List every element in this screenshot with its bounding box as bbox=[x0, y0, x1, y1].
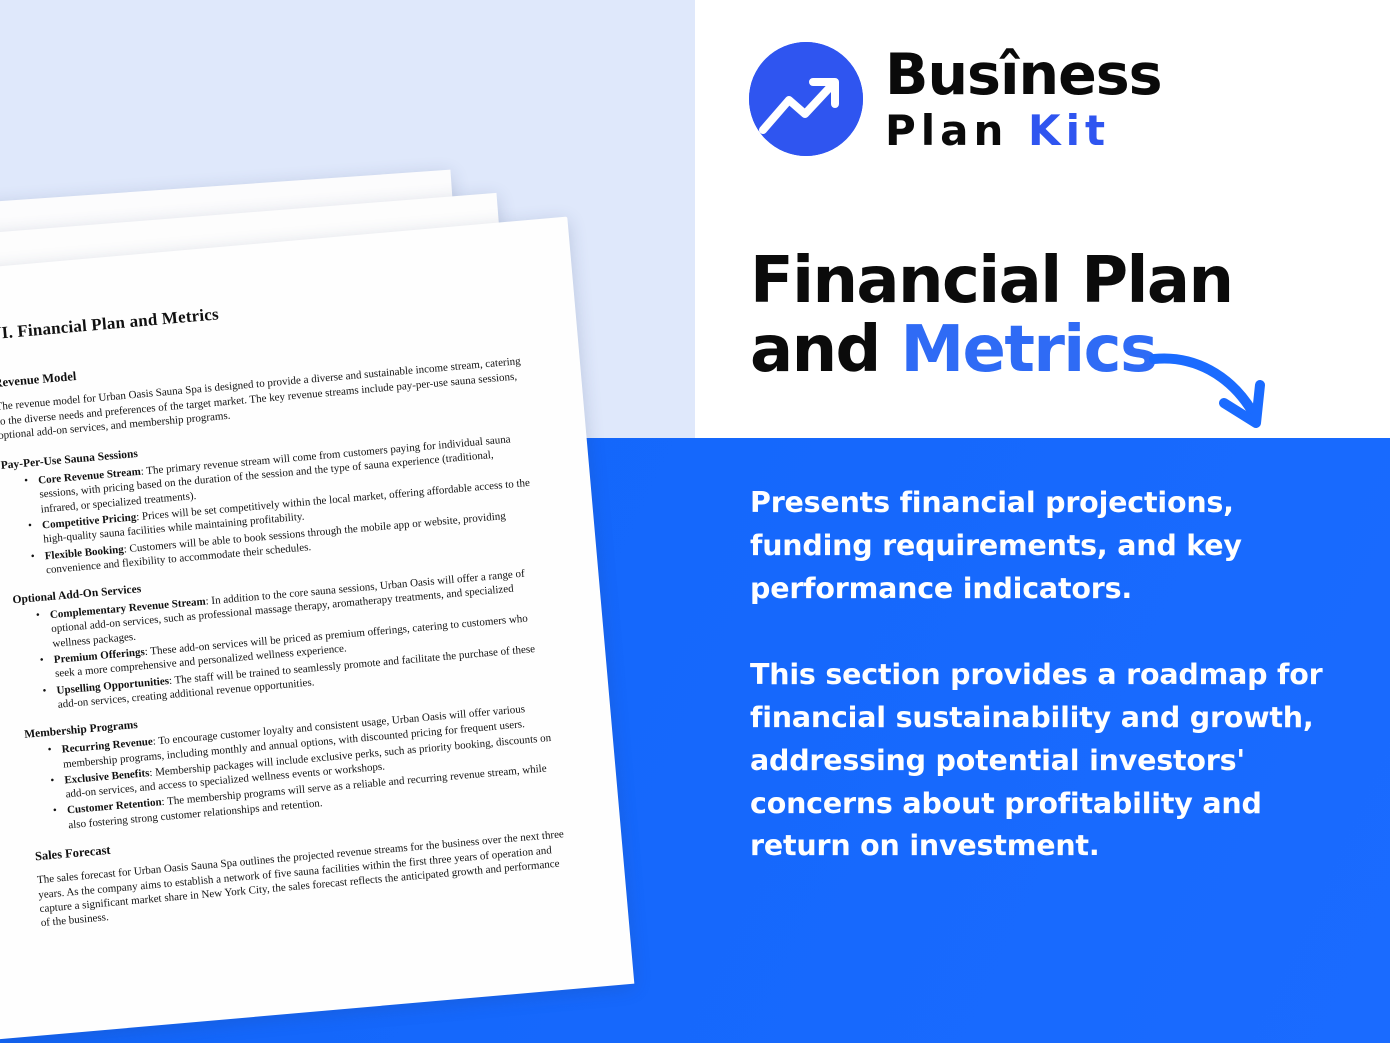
brand-line-business: Busîness bbox=[885, 47, 1162, 104]
panel-paragraph-2: This section provides a roadmap for fina… bbox=[750, 654, 1355, 868]
brand-plan: Plan bbox=[885, 106, 1008, 155]
brand-wordmark: Busîness Plan Kit bbox=[885, 47, 1162, 152]
brand-logo: Busîness Plan Kit bbox=[749, 42, 1162, 156]
page-title-line2-accent: Metrics bbox=[900, 313, 1156, 387]
brand-line-plan-kit: Plan Kit bbox=[885, 110, 1162, 152]
document-page-front: VI. Financial Plan and Metrics Revenue M… bbox=[0, 217, 634, 1040]
panel-description: Presents financial projections, funding … bbox=[750, 482, 1355, 868]
document-groups: Pay-Per-Use Sauna SessionsCore Revenue S… bbox=[0, 413, 563, 836]
document-content: VI. Financial Plan and Metrics Revenue M… bbox=[0, 217, 634, 1040]
page-title-line1: Financial Plan bbox=[750, 244, 1232, 318]
growth-arrow-circle-icon bbox=[749, 42, 863, 156]
page-title-line2-plain: and bbox=[750, 313, 900, 387]
brand-kit: Kit bbox=[1028, 106, 1110, 155]
document-stack: V Re Th V Re Th inc stre Pay VI. Financi… bbox=[0, 0, 760, 1010]
panel-paragraph-1: Presents financial projections, funding … bbox=[750, 482, 1355, 610]
curved-down-right-arrow-icon bbox=[1148, 345, 1283, 450]
